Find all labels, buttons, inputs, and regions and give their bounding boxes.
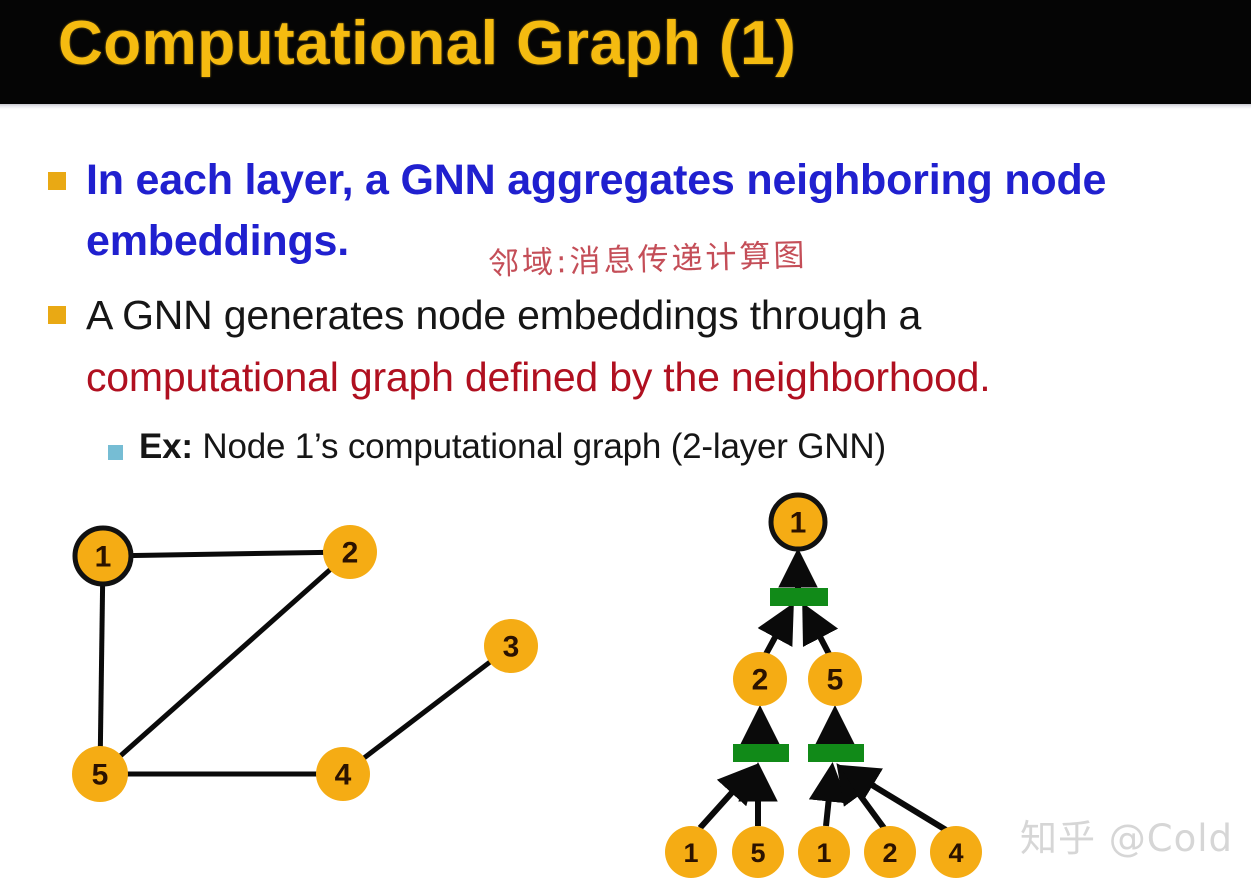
watermark: 知乎 @Cold <box>1020 808 1233 862</box>
tree-root-node-1-label: 1 <box>790 507 807 540</box>
tree-leaf-node-1b-label: 1 <box>816 838 831 868</box>
graph-node-3-label: 3 <box>503 631 520 664</box>
arrow-node2-to-rootagg <box>766 608 791 654</box>
title-divider <box>0 104 1251 109</box>
handwritten-annotation: 邻域:消息传递计算图 <box>487 230 808 284</box>
tree-leaf-node-4-label: 4 <box>948 838 963 868</box>
tree-layer1-node-5[interactable]: 5 <box>808 652 862 706</box>
teal-square-bullet-icon <box>108 445 123 460</box>
arrow-leaf1-to-leftagg <box>700 768 754 828</box>
graph-node-5[interactable]: 5 <box>72 746 128 802</box>
tree-layer1-node-5-label: 5 <box>827 664 844 697</box>
arrow-leaf1b-to-rightagg <box>826 768 832 826</box>
slide-body: In each layer, a GNN aggregates neighbor… <box>0 112 1251 492</box>
edge-5-2 <box>100 552 350 774</box>
graph-node-2[interactable]: 2 <box>323 525 377 579</box>
slide-canvas: Computational Graph (1) In each layer, a… <box>0 0 1251 888</box>
tree-layer1-node-2[interactable]: 2 <box>733 652 787 706</box>
orange-square-bullet-icon <box>48 306 66 324</box>
title-bar: Computational Graph (1) <box>0 0 1251 104</box>
edge-4-3 <box>343 646 511 774</box>
tree-leaf-node-4[interactable]: 4 <box>930 826 982 878</box>
bullet-item-3-text: Ex: Node 1’s computational graph (2-laye… <box>139 427 886 467</box>
aggregation-bar-right <box>808 744 864 762</box>
arrow-node5-to-rootagg <box>805 608 829 654</box>
tree-leaf-node-1a[interactable]: 1 <box>665 826 717 878</box>
computational-graph-diagram: 1 2 5 1 5 1 2 4 <box>630 478 1030 888</box>
tree-layer1-node-2-label: 2 <box>752 664 769 697</box>
bullet-item-3: Ex: Node 1’s computational graph (2-laye… <box>108 427 1228 467</box>
aggregation-bar-left <box>733 744 789 762</box>
bullet-item-2: A GNN generates node embeddings through … <box>48 284 1243 409</box>
tree-root-node-1[interactable]: 1 <box>771 495 825 549</box>
input-graph-diagram: 1 2 3 5 4 <box>40 496 580 836</box>
tree-leaf-node-1a-label: 1 <box>683 838 698 868</box>
graph-node-1-label: 1 <box>95 541 112 574</box>
tree-leaf-node-5[interactable]: 5 <box>732 826 784 878</box>
edge-1-5 <box>100 556 103 774</box>
tree-leaf-node-2-label: 2 <box>882 838 897 868</box>
bullet-item-2-text-line2: computational graph defined by the neigh… <box>86 346 990 408</box>
tree-leaf-node-1b[interactable]: 1 <box>798 826 850 878</box>
page-title: Computational Graph (1) <box>58 8 796 79</box>
graph-node-4[interactable]: 4 <box>316 747 370 801</box>
bullet-item-2-text: A GNN generates node embeddings through … <box>86 284 990 409</box>
bullet-item-3-label: Ex: <box>139 427 193 466</box>
tree-leaf-node-5-label: 5 <box>750 838 765 868</box>
edge-1-2 <box>103 552 350 556</box>
graph-node-4-label: 4 <box>335 759 352 792</box>
tree-leaf-node-2[interactable]: 2 <box>864 826 916 878</box>
bullet-item-2-text-line1: A GNN generates node embeddings through … <box>86 292 921 338</box>
graph-node-3[interactable]: 3 <box>484 619 538 673</box>
graph-node-5-label: 5 <box>92 759 109 792</box>
graph-node-2-label: 2 <box>342 537 359 570</box>
orange-square-bullet-icon <box>48 172 66 190</box>
bullet-item-3-body: Node 1’s computational graph (2-layer GN… <box>193 427 886 466</box>
graph-node-1[interactable]: 1 <box>75 528 131 584</box>
aggregation-bar-root <box>770 588 828 606</box>
